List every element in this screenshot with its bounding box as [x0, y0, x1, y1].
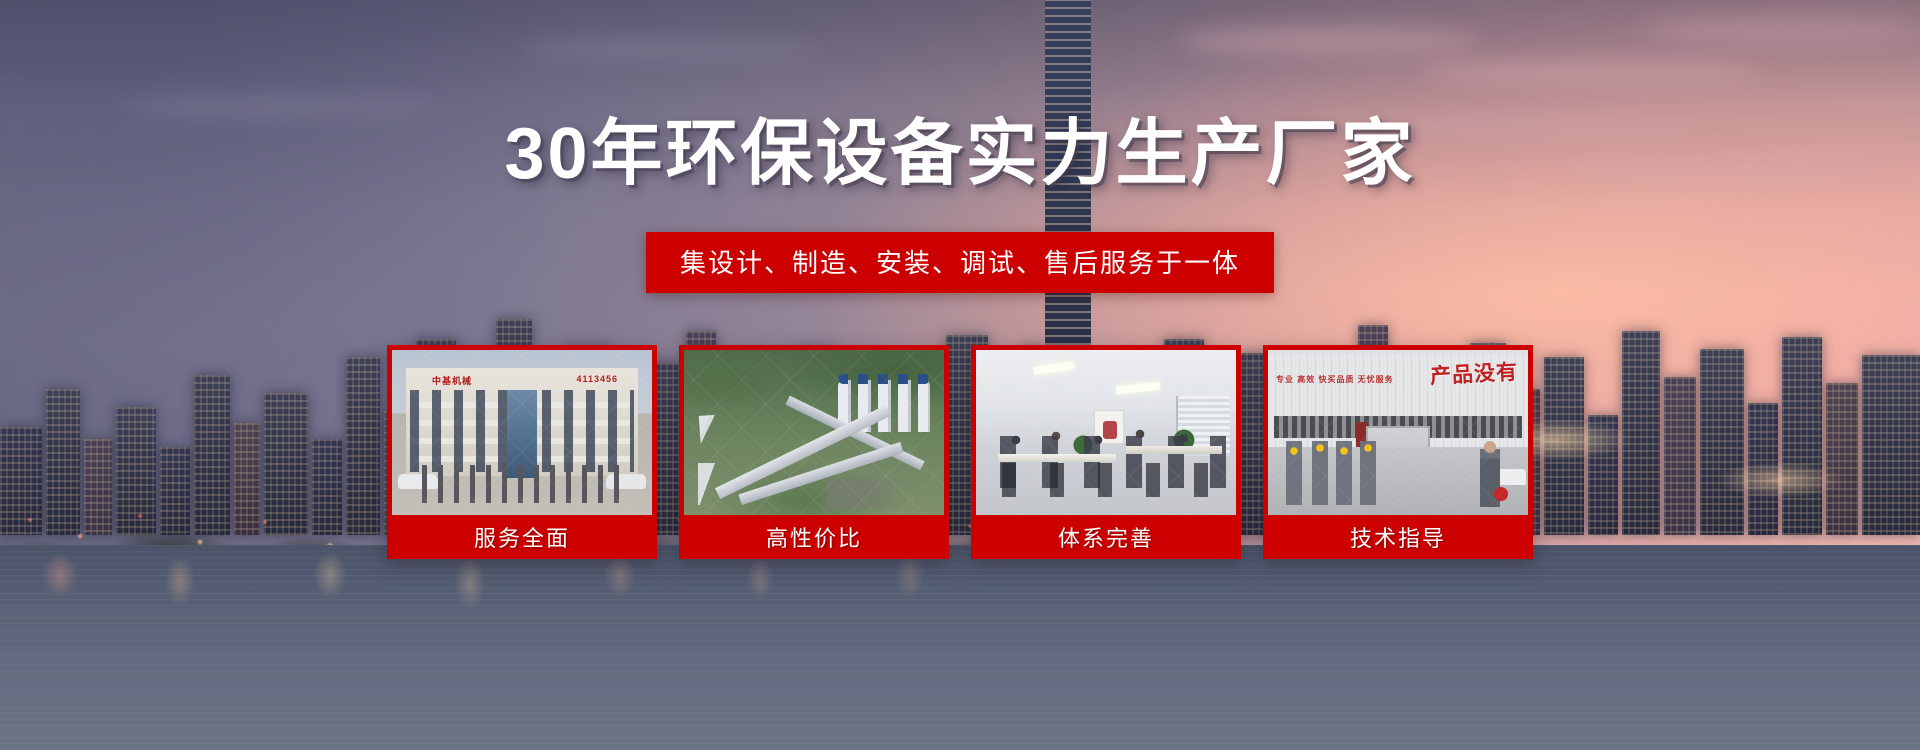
- card-label-3: 体系完善: [976, 515, 1236, 559]
- card-label-1: 服务全面: [392, 515, 652, 559]
- building-phone-number: 4113456: [576, 374, 618, 384]
- feature-card-1[interactable]: 中基机械 4113456 服务全面: [387, 345, 657, 559]
- feature-card-row: 中基机械 4113456 服务全面 高性价比: [387, 345, 1533, 559]
- cloud-shape: [1640, 18, 1920, 42]
- workers-in-hardhats: [1280, 441, 1400, 505]
- banner-subtitle-bar: 集设计、制造、安装、调试、售后服务于一体: [646, 232, 1274, 293]
- factory-wall-slogans: 专业 高效 快买品质 无忧服务: [1276, 374, 1394, 386]
- hero-banner: 30年环保设备实力生产厂家 集设计、制造、安装、调试、售后服务于一体 中基机械 …: [0, 0, 1920, 750]
- feature-card-4[interactable]: 专业 高效 快买品质 无忧服务 产品没有 技术指导: [1263, 345, 1533, 559]
- card-photo-industrial-plant: [684, 350, 944, 515]
- river-water: [0, 545, 1920, 750]
- card-label-2: 高性价比: [684, 515, 944, 559]
- feature-card-2[interactable]: 高性价比: [679, 345, 949, 559]
- building-company-sign: 中基机械: [432, 374, 472, 387]
- cloud-shape: [1180, 28, 1480, 54]
- cloud-shape: [120, 96, 440, 118]
- staff-lineup: [418, 465, 626, 503]
- banner-headline: 30年环保设备实力生产厂家: [0, 118, 1920, 190]
- cloud-shape: [520, 40, 820, 60]
- card-photo-factory-workers: 专业 高效 快买品质 无忧服务 产品没有: [1268, 350, 1528, 515]
- card-photo-office-meeting: [976, 350, 1236, 515]
- factory-wall-sign: 产品没有: [1429, 356, 1518, 391]
- feature-card-3[interactable]: 体系完善: [971, 345, 1241, 559]
- card-photo-office-building: 中基机械 4113456: [392, 350, 652, 515]
- card-label-4: 技术指导: [1268, 515, 1528, 559]
- cloud-shape: [1420, 62, 1760, 84]
